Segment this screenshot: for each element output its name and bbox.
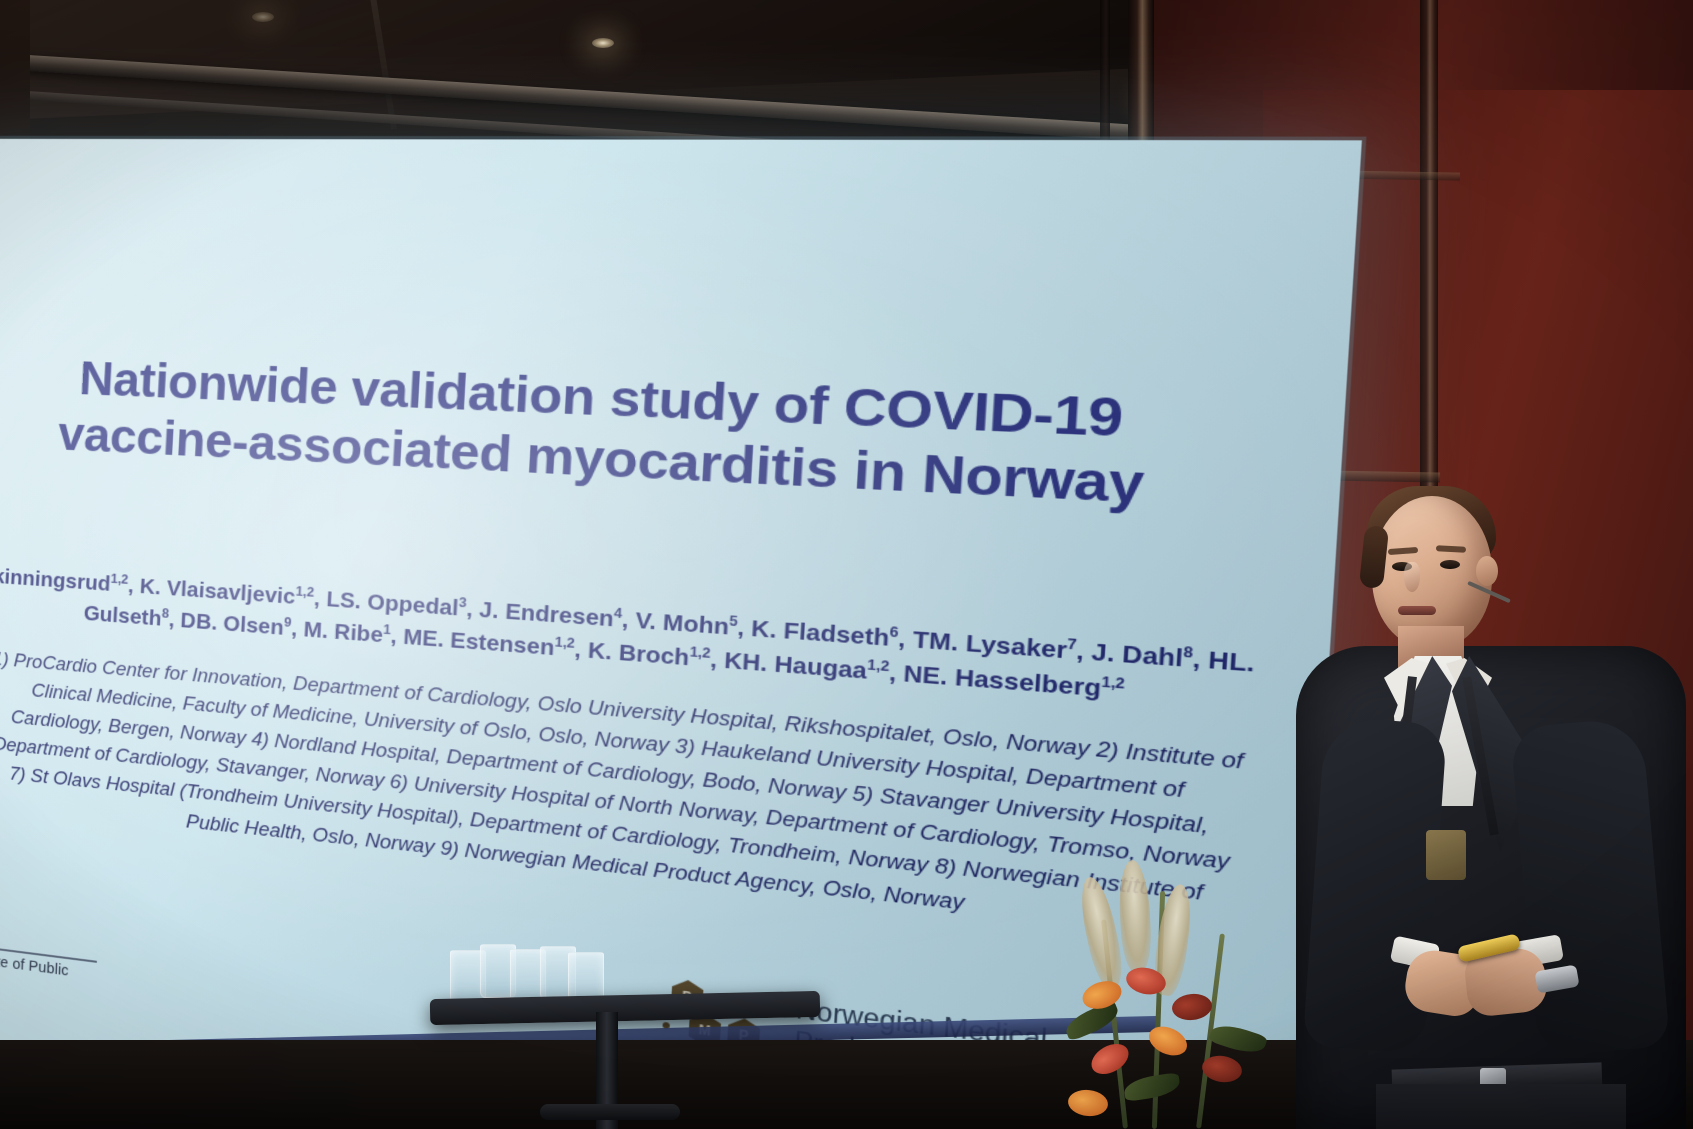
nose	[1404, 562, 1420, 592]
mouth	[1398, 606, 1436, 615]
trousers	[1376, 1084, 1626, 1129]
flower-arrangement	[1060, 860, 1340, 1129]
drinking-glasses-group	[450, 944, 600, 1000]
presenter	[1280, 470, 1693, 1129]
flower-petal	[1086, 1038, 1134, 1081]
leaf	[1208, 1020, 1268, 1058]
niph-logo-mark: NIPH	[0, 885, 116, 957]
eye	[1440, 560, 1460, 569]
pampas-grass	[1117, 859, 1153, 972]
slide-title: Nationwide validation study of COVID-19 …	[0, 346, 1261, 523]
flower-petal	[1067, 1088, 1109, 1118]
niph-logo: NIPH Norwegian Institute of Public Healt…	[0, 885, 116, 1002]
leaf	[1123, 1072, 1182, 1102]
presentation-photo-scene: Nationwide validation study of COVID-19 …	[0, 0, 1693, 1129]
ear	[1476, 556, 1498, 586]
downlight-icon	[252, 12, 274, 22]
table-base	[540, 1104, 680, 1120]
flower-petal	[1171, 992, 1213, 1022]
downlight-icon	[592, 38, 614, 48]
name-badge	[1426, 830, 1466, 880]
flower-petal	[1144, 1021, 1191, 1061]
